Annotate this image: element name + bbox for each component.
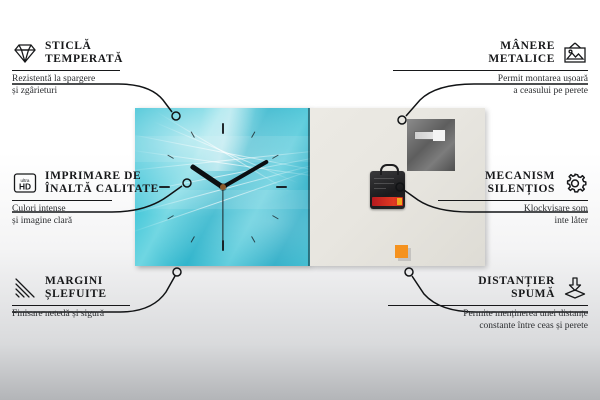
callout-title-line2: SILENȚIOS [485,183,555,196]
callout-metal-handles: MÂNERE METALICE Permit montarea ușoară a… [393,40,588,97]
callout-sub-line1: Klockvisare som [438,204,588,216]
diamond-icon [12,41,38,65]
callout-title-line1: MÂNERE [488,40,555,53]
callout-sub-line2: constante între ceas și perete [388,321,588,333]
callout-rule [438,200,588,201]
callout-title-line2: METALICE [488,53,555,66]
clock-minute-hand [222,159,269,188]
callout-title-line1: IMPRIMARE DE [45,170,159,183]
callout-title-line1: DISTANȚIER [478,275,555,288]
callout-sub-line1: Permit montarea ușoară [393,74,588,86]
infographic-canvas: STICLĂ TEMPERATĂ Rezistentă la spargere … [0,0,600,400]
callout-sub-line2: a ceasului pe perete [393,86,588,98]
callout-foam-spacer: DISTANȚIER SPUMĂ Permite menținerea unei… [388,275,588,332]
ultra-hd-badge-icon: ultra HD [12,171,38,195]
callout-sub-line2: și zgârieturi [12,86,197,98]
callout-title-line1: MARGINI [45,275,107,288]
svg-text:HD: HD [19,182,31,192]
callout-print-quality: ultra HD IMPRIMARE DE ÎNALTĂ CALITATE Cu… [12,170,202,227]
callout-title-line2: ȘLEFUITE [45,288,107,301]
callout-rule [12,70,120,71]
quartz-movement [370,171,405,209]
foam-spacer-pad [395,245,408,258]
callout-title-line2: ÎNALTĂ CALITATE [45,183,159,196]
callout-rule [12,200,112,201]
gear-icon [562,171,588,195]
callout-sub-line1: Permite menținerea unei distanțe [388,309,588,321]
callout-sub-line2: și imagine clară [12,216,202,228]
arrow-down-onto-pad-icon [562,276,588,300]
callout-rule [388,305,588,306]
callout-sub-line1: Finisare netedă și sigură [12,309,202,321]
picture-hanger-icon [562,41,588,65]
callout-tempered-glass: STICLĂ TEMPERATĂ Rezistentă la spargere … [12,40,197,97]
callout-sub-line2: inte låter [438,216,588,228]
callout-title-line1: MECANISM [485,170,555,183]
callout-sub-line1: Culori intense [12,204,202,216]
hatched-edge-icon [12,276,38,300]
callout-title-line2: SPUMĂ [478,288,555,301]
callout-title-line2: TEMPERATĂ [45,53,123,66]
callout-title-line1: STICLĂ [45,40,123,53]
callout-polished-edges: MARGINI ȘLEFUITE Finisare netedă și sigu… [12,275,202,321]
callout-rule [393,70,588,71]
callout-sub-line1: Rezistentă la spargere [12,74,197,86]
callout-rule [12,305,130,306]
clock-second-hand [222,187,223,245]
metal-hanger-plate [407,119,455,171]
callout-silent-mechanism: MECANISM SILENȚIOS Klockvisare som inte … [438,170,588,227]
clock-center-cap [220,184,226,190]
